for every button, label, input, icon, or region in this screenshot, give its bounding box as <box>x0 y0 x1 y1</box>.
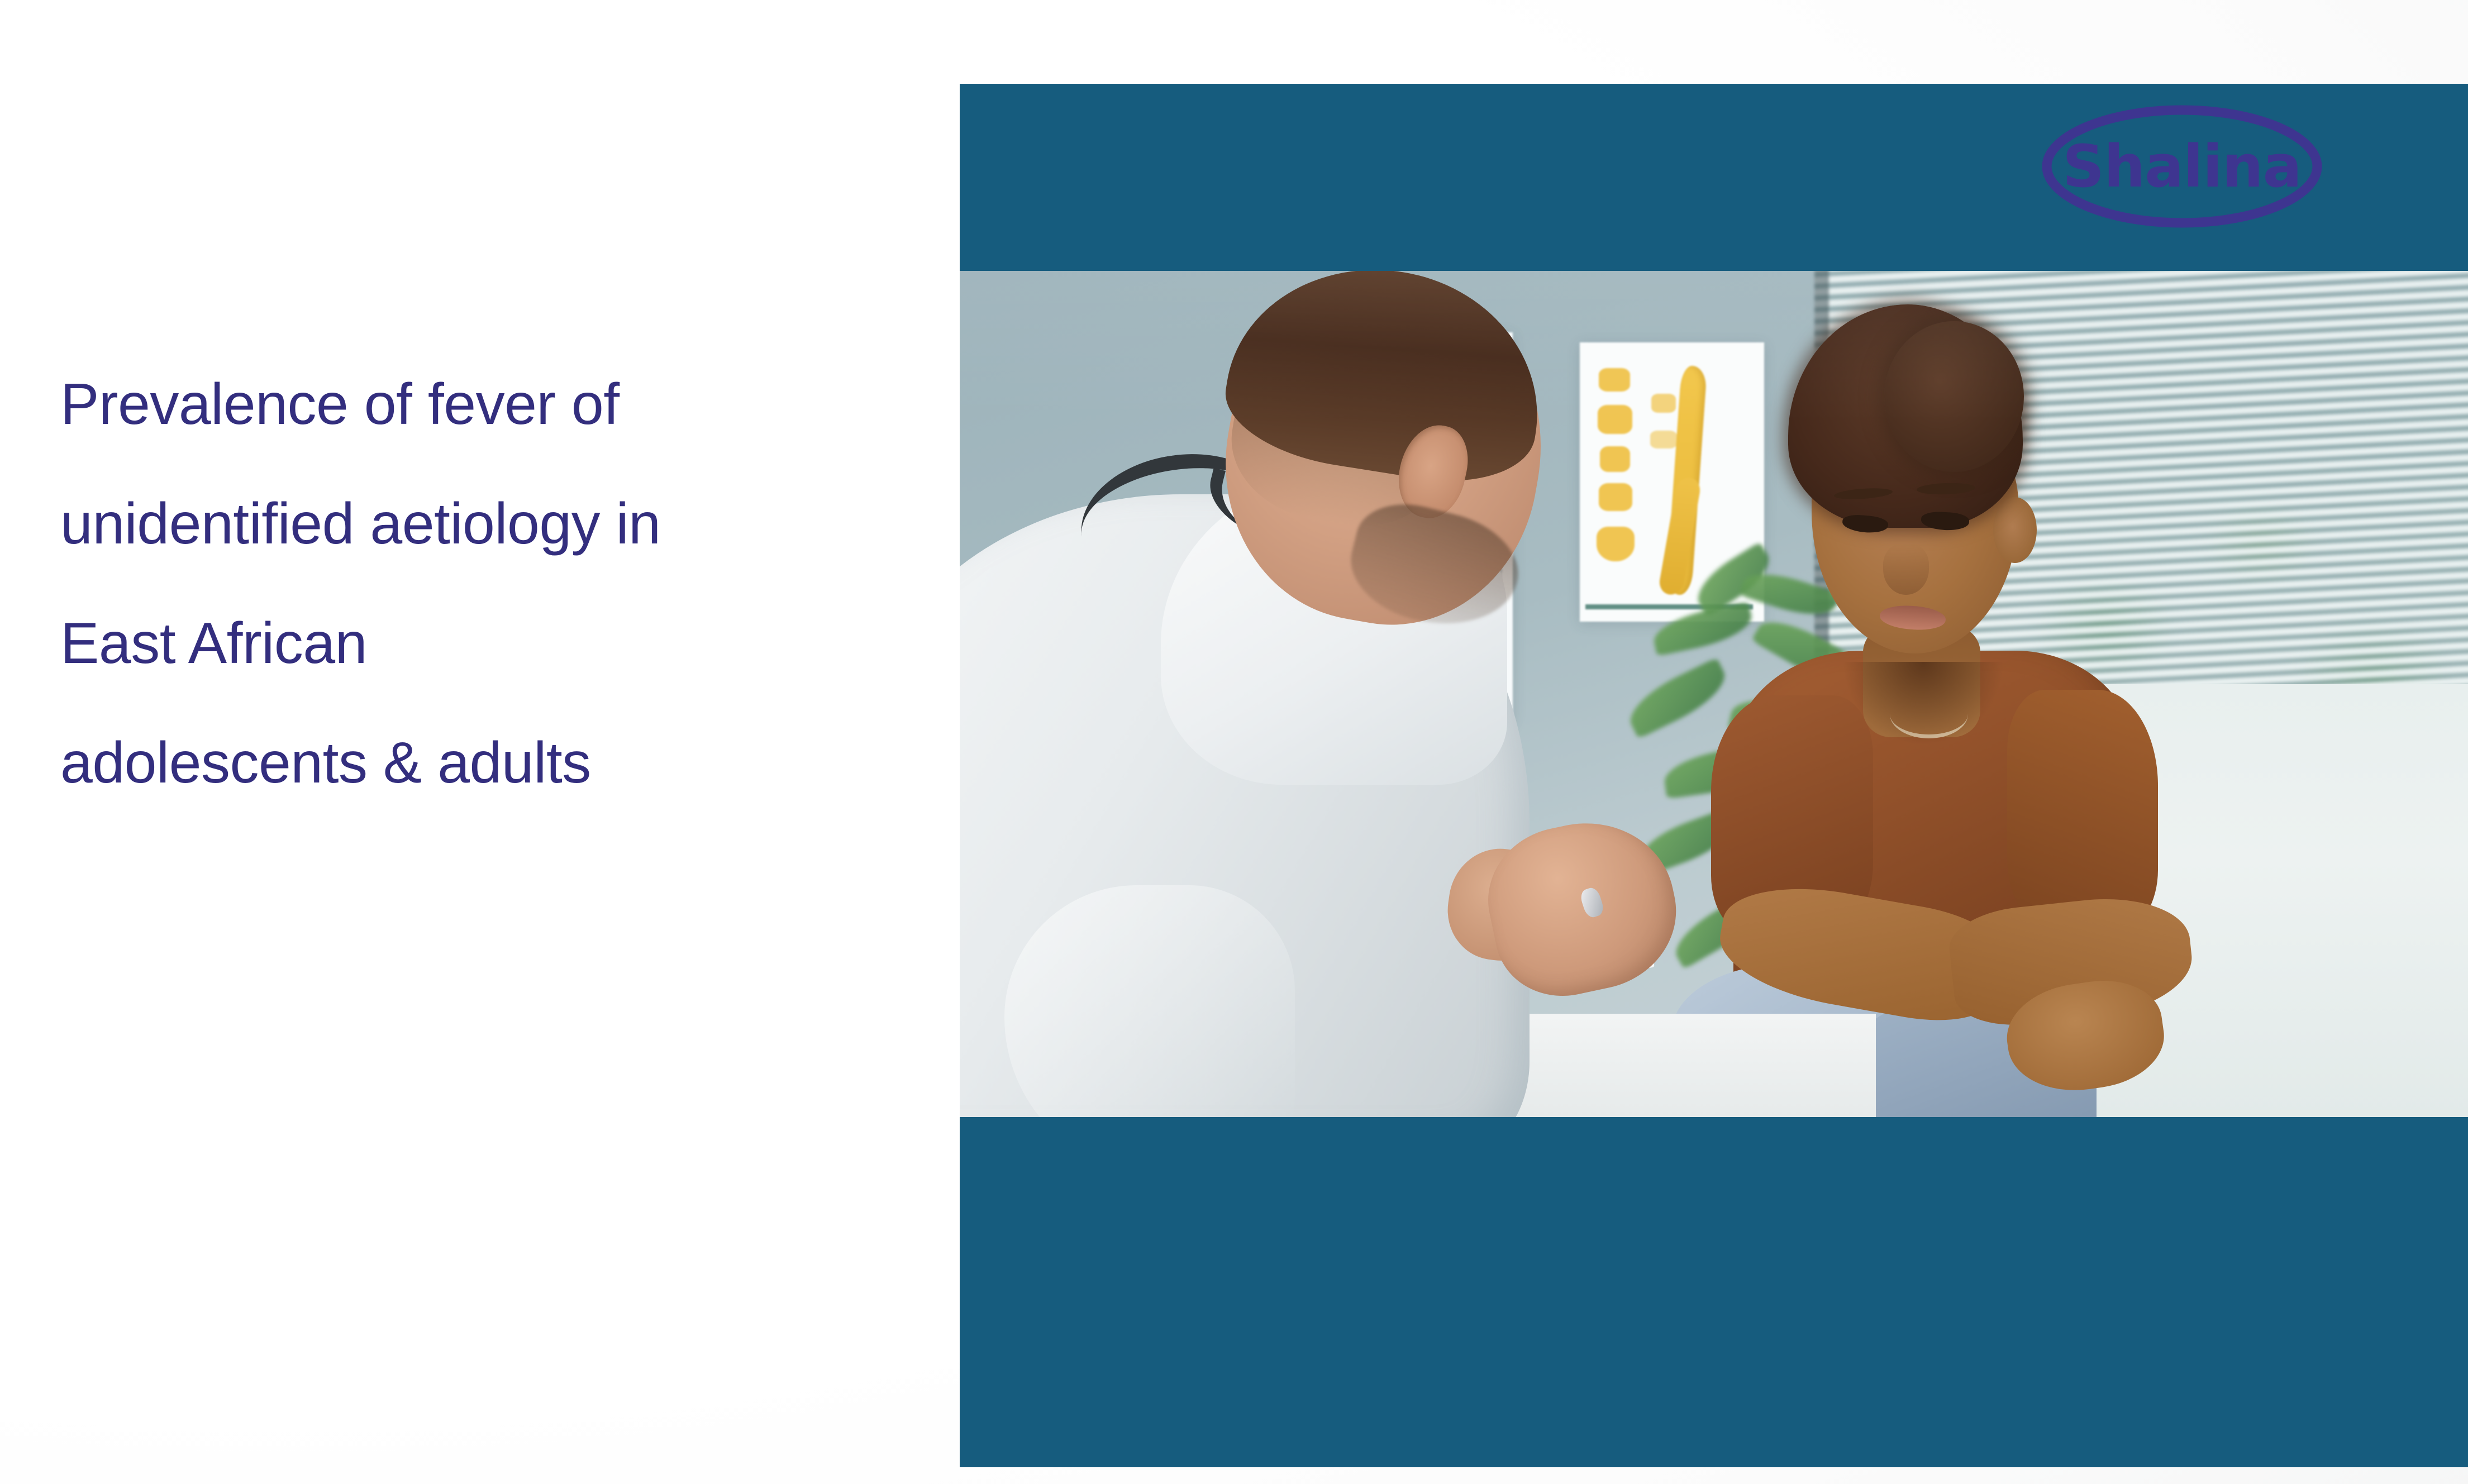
doctor-figure <box>960 271 1686 1117</box>
presentation-slide: Prevalence of fever of unidentified aeti… <box>0 0 2468 1484</box>
title-line-3: East African <box>60 614 954 672</box>
patient-collar <box>1842 662 2004 746</box>
patient-nose <box>1883 543 1929 595</box>
title-line-2: unidentified aetiology in <box>60 495 954 553</box>
patient-hair-bun <box>1884 321 2024 472</box>
patient-ear <box>1993 497 2037 563</box>
title-line-1: Prevalence of fever of <box>60 375 954 433</box>
logo-wordmark: Shalina <box>2039 102 2325 231</box>
image-panel: Shalina <box>960 84 2468 1467</box>
shalina-logo: Shalina <box>2039 102 2325 231</box>
page-title: Prevalence of fever of unidentified aeti… <box>60 375 954 792</box>
coat-fold <box>1004 885 1295 1117</box>
clinic-photo <box>960 271 2468 1117</box>
patient-figure <box>1650 304 2320 1117</box>
patient-sleeve-right <box>2007 690 2158 930</box>
title-line-4: adolescents & adults <box>60 734 954 792</box>
